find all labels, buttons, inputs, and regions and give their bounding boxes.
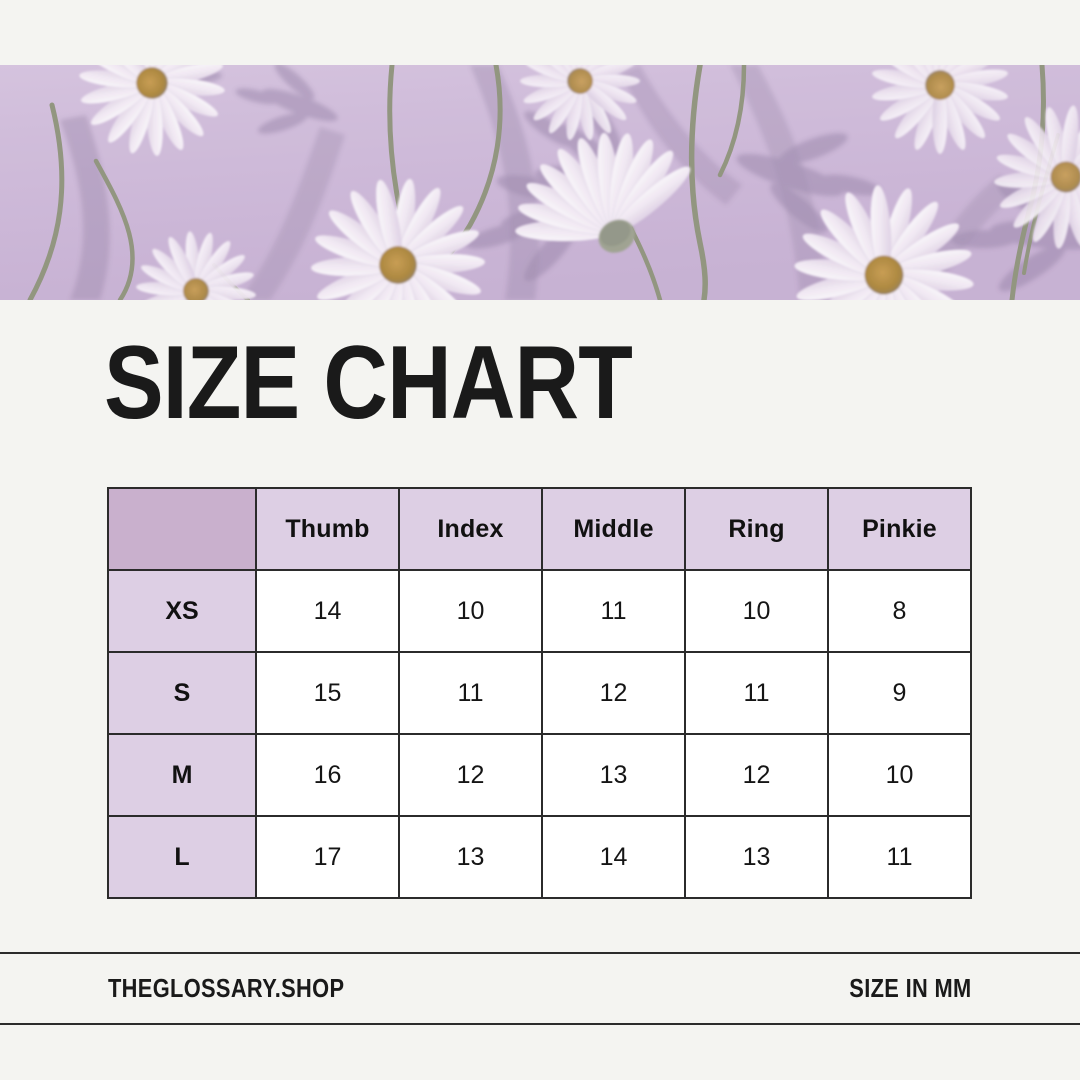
cell-m-index: 12 xyxy=(399,734,542,816)
cell-xs-middle: 11 xyxy=(542,570,685,652)
cell-m-pinkie: 10 xyxy=(828,734,971,816)
row-header-l: L xyxy=(108,816,256,898)
cell-m-thumb: 16 xyxy=(256,734,399,816)
cell-xs-pinkie: 8 xyxy=(828,570,971,652)
size-chart-table-wrapper: Thumb Index Middle Ring Pinkie XS 14 10 … xyxy=(107,487,972,899)
cell-l-index: 13 xyxy=(399,816,542,898)
cell-l-ring: 13 xyxy=(685,816,828,898)
size-chart-table: Thumb Index Middle Ring Pinkie XS 14 10 … xyxy=(107,487,972,899)
row-header-m: M xyxy=(108,734,256,816)
table-row: XS 14 10 11 10 8 xyxy=(108,570,971,652)
table-header-row: Thumb Index Middle Ring Pinkie xyxy=(108,488,971,570)
column-header-thumb: Thumb xyxy=(256,488,399,570)
table-corner-cell xyxy=(108,488,256,570)
column-header-index: Index xyxy=(399,488,542,570)
column-header-middle: Middle xyxy=(542,488,685,570)
table-row: M 16 12 13 12 10 xyxy=(108,734,971,816)
hero-banner xyxy=(0,65,1080,300)
footer-divider-bottom xyxy=(0,1023,1080,1025)
cell-xs-ring: 10 xyxy=(685,570,828,652)
cell-xs-index: 10 xyxy=(399,570,542,652)
cell-xs-thumb: 14 xyxy=(256,570,399,652)
footer-unit-label: SIZE IN MM xyxy=(850,975,972,1001)
table-row: L 17 13 14 13 11 xyxy=(108,816,971,898)
page-title: SIZE CHART xyxy=(104,331,632,435)
footer-brand-label: THEGLOSSARY.SHOP xyxy=(108,975,344,1001)
footer-divider-top xyxy=(0,952,1080,954)
cell-m-ring: 12 xyxy=(685,734,828,816)
cell-m-middle: 13 xyxy=(542,734,685,816)
cell-l-thumb: 17 xyxy=(256,816,399,898)
column-header-ring: Ring xyxy=(685,488,828,570)
cell-s-ring: 11 xyxy=(685,652,828,734)
row-header-s: S xyxy=(108,652,256,734)
cell-l-middle: 14 xyxy=(542,816,685,898)
cell-s-pinkie: 9 xyxy=(828,652,971,734)
cell-s-middle: 12 xyxy=(542,652,685,734)
cell-s-index: 11 xyxy=(399,652,542,734)
daisy-photo xyxy=(0,65,1080,300)
table-row: S 15 11 12 11 9 xyxy=(108,652,971,734)
column-header-pinkie: Pinkie xyxy=(828,488,971,570)
cell-l-pinkie: 11 xyxy=(828,816,971,898)
row-header-xs: XS xyxy=(108,570,256,652)
cell-s-thumb: 15 xyxy=(256,652,399,734)
